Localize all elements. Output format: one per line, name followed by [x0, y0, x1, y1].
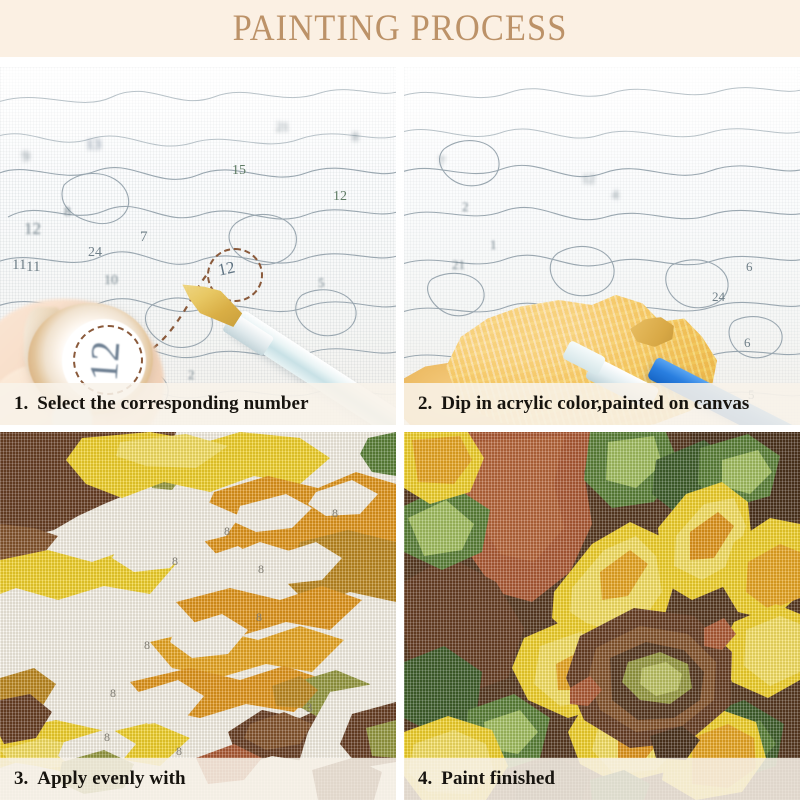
region-number: 8: [144, 638, 150, 653]
step-1-panel: 9 13 12 8 10 7 11 12 24 11 8 15 12 5 21 …: [0, 67, 396, 425]
step-1-text: Select the corresponding number: [37, 393, 308, 415]
partially-painted-sunflower: [0, 432, 396, 800]
step-1-photo: 9 13 12 8 10 7 11 12 24 11 8 15 12 5 21 …: [0, 67, 396, 425]
painting-process-infographic: PAINTING PROCESS: [0, 0, 800, 800]
step-1-number: 1.: [14, 393, 28, 415]
step-3-artwork: 8 8 8 8 8 8 8 8 8 8 3: [0, 432, 396, 800]
step-2-caption: 2. Dip in acrylic color,painted on canva…: [404, 383, 800, 425]
step-3-panel: 8 8 8 8 8 8 8 8 8 8 3 3. Apply evenly wi…: [0, 432, 396, 800]
step-2-text: Dip in acrylic color,painted on canvas: [441, 393, 749, 415]
step-3-number: 3.: [14, 768, 28, 790]
step-2-panel: 7 12 4 2 21 1 24 20 6 8 6 5 24 8: [404, 67, 800, 425]
step-1-caption: 1. Select the corresponding number: [0, 383, 396, 425]
step-2-number: 2.: [418, 393, 432, 415]
step-2-photo: 7 12 4 2 21 1 24 20 6 8 6 5 24 8: [404, 67, 800, 425]
step-3-caption: 3. Apply evenly with: [0, 758, 396, 800]
region-number: 8: [176, 744, 182, 759]
region-number: 8: [104, 730, 110, 745]
region-number: 8: [256, 610, 262, 625]
region-number: 8: [332, 506, 338, 521]
step-4-text: Paint finished: [441, 768, 555, 790]
region-number: 8: [224, 524, 230, 539]
region-number: 8: [258, 562, 264, 577]
finished-sunflower-painting: [404, 432, 800, 800]
step-4-artwork: [404, 432, 800, 800]
region-number: 3: [306, 700, 313, 716]
steps-grid: 9 13 12 8 10 7 11 12 24 11 8 15 12 5 21 …: [0, 67, 800, 800]
step-4-number: 4.: [418, 768, 432, 790]
region-number: 8: [110, 686, 116, 701]
page-title: PAINTING PROCESS: [233, 7, 568, 50]
step-4-panel: 4. Paint finished: [404, 432, 800, 800]
step-4-caption: 4. Paint finished: [404, 758, 800, 800]
region-number: 8: [172, 554, 178, 569]
step-3-text: Apply evenly with: [37, 768, 185, 790]
header-band: PAINTING PROCESS: [0, 0, 800, 57]
